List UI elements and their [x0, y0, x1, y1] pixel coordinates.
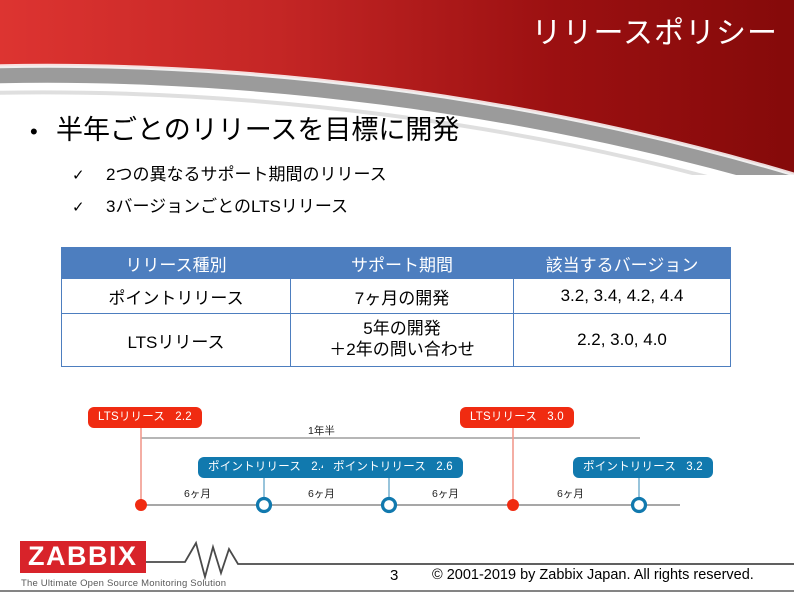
table-row: LTSリリース 5年の開発 ＋2年の問い合わせ 2.2, 3.0, 4.0 [62, 314, 731, 367]
release-timeline-diagram: LTSリリース 2.2 ポイントリリース 2.4 ポイントリリース 2.6 LT… [0, 390, 794, 520]
cell-versions: 2.2, 3.0, 4.0 [514, 314, 731, 367]
zabbix-logo: ZABBIX [20, 541, 146, 573]
bullet-marker-icon: • [30, 121, 56, 143]
main-bullet-text: 半年ごとのリリースを目標に開発 [56, 108, 459, 147]
badge-label: ポイントリリース [583, 461, 676, 473]
label-gap-3: 6ヶ月 [432, 486, 459, 501]
release-policy-table: リリース種別 サポート期間 該当するバージョン ポイントリリース 7ヶ月の開発 … [61, 247, 731, 367]
label-gap-4: 6ヶ月 [557, 486, 584, 501]
badge-point-2-6[interactable]: ポイントリリース 2.6 [323, 457, 463, 478]
cell-release-type: ポイントリリース [62, 279, 291, 314]
badge-version: 2.2 [175, 411, 192, 423]
badge-version: 3.0 [547, 411, 564, 423]
sub-bullet-1: ✓ 2つの異なるサポート期間のリリース [72, 160, 387, 185]
slide-content: • 半年ごとのリリースを目標に開発 ✓ 2つの異なるサポート期間のリリース ✓ … [0, 0, 794, 595]
badge-label: LTSリリース [98, 411, 165, 423]
badge-version: 3.2 [686, 461, 703, 473]
badge-label: LTSリリース [470, 411, 537, 423]
cell-release-type: LTSリリース [62, 314, 291, 367]
label-span-18-months: 1年半 [308, 423, 335, 438]
badge-version: 2.6 [436, 461, 453, 473]
slide-footer: ZABBIX The Ultimate Open Source Monitori… [0, 533, 794, 595]
zabbix-tagline: The Ultimate Open Source Monitoring Solu… [21, 578, 226, 589]
cell-versions: 3.2, 3.4, 4.2, 4.4 [514, 279, 731, 314]
page-title: リリースポリシー [532, 8, 779, 52]
table-header-row: リリース種別 サポート期間 該当するバージョン [62, 248, 731, 279]
label-gap-2: 6ヶ月 [308, 486, 335, 501]
marker-lts-2-2 [135, 499, 147, 511]
marker-lts-3-0 [507, 499, 519, 511]
checkmark-icon: ✓ [72, 166, 106, 184]
sub-bullet-2: ✓ 3バージョンごとのLTSリリース [72, 192, 348, 217]
table-row: ポイントリリース 7ヶ月の開発 3.2, 3.4, 4.2, 4.4 [62, 279, 731, 314]
sub-bullet-1-text: 2つの異なるサポート期間のリリース [106, 160, 387, 185]
badge-lts-3-0[interactable]: LTSリリース 3.0 [460, 407, 574, 428]
column-header-versions: 該当するバージョン [514, 248, 731, 279]
cell-support-period-line1: 5年の開発 [291, 319, 513, 340]
label-gap-1: 6ヶ月 [184, 486, 211, 501]
badge-point-2-4[interactable]: ポイントリリース 2.4 [198, 457, 338, 478]
marker-point-3-2 [633, 499, 646, 512]
copyright-notice: © 2001-2019 by Zabbix Japan. All rights … [432, 567, 754, 583]
cell-support-period: 5年の開発 ＋2年の問い合わせ [291, 314, 514, 367]
checkmark-icon: ✓ [72, 198, 106, 216]
badge-lts-2-2[interactable]: LTSリリース 2.2 [88, 407, 202, 428]
badge-point-3-2[interactable]: ポイントリリース 3.2 [573, 457, 713, 478]
marker-point-2-4 [258, 499, 271, 512]
main-bullet: • 半年ごとのリリースを目標に開発 [30, 108, 459, 147]
marker-point-2-6 [383, 499, 396, 512]
column-header-release-type: リリース種別 [62, 248, 291, 279]
sub-bullet-2-text: 3バージョンごとのLTSリリース [106, 192, 348, 217]
cell-support-period-line2: ＋2年の問い合わせ [291, 340, 513, 361]
badge-label: ポイントリリース [333, 461, 426, 473]
cell-support-period: 7ヶ月の開発 [291, 279, 514, 314]
column-header-support-period: サポート期間 [291, 248, 514, 279]
page-number: 3 [390, 567, 398, 584]
badge-label: ポイントリリース [208, 461, 301, 473]
